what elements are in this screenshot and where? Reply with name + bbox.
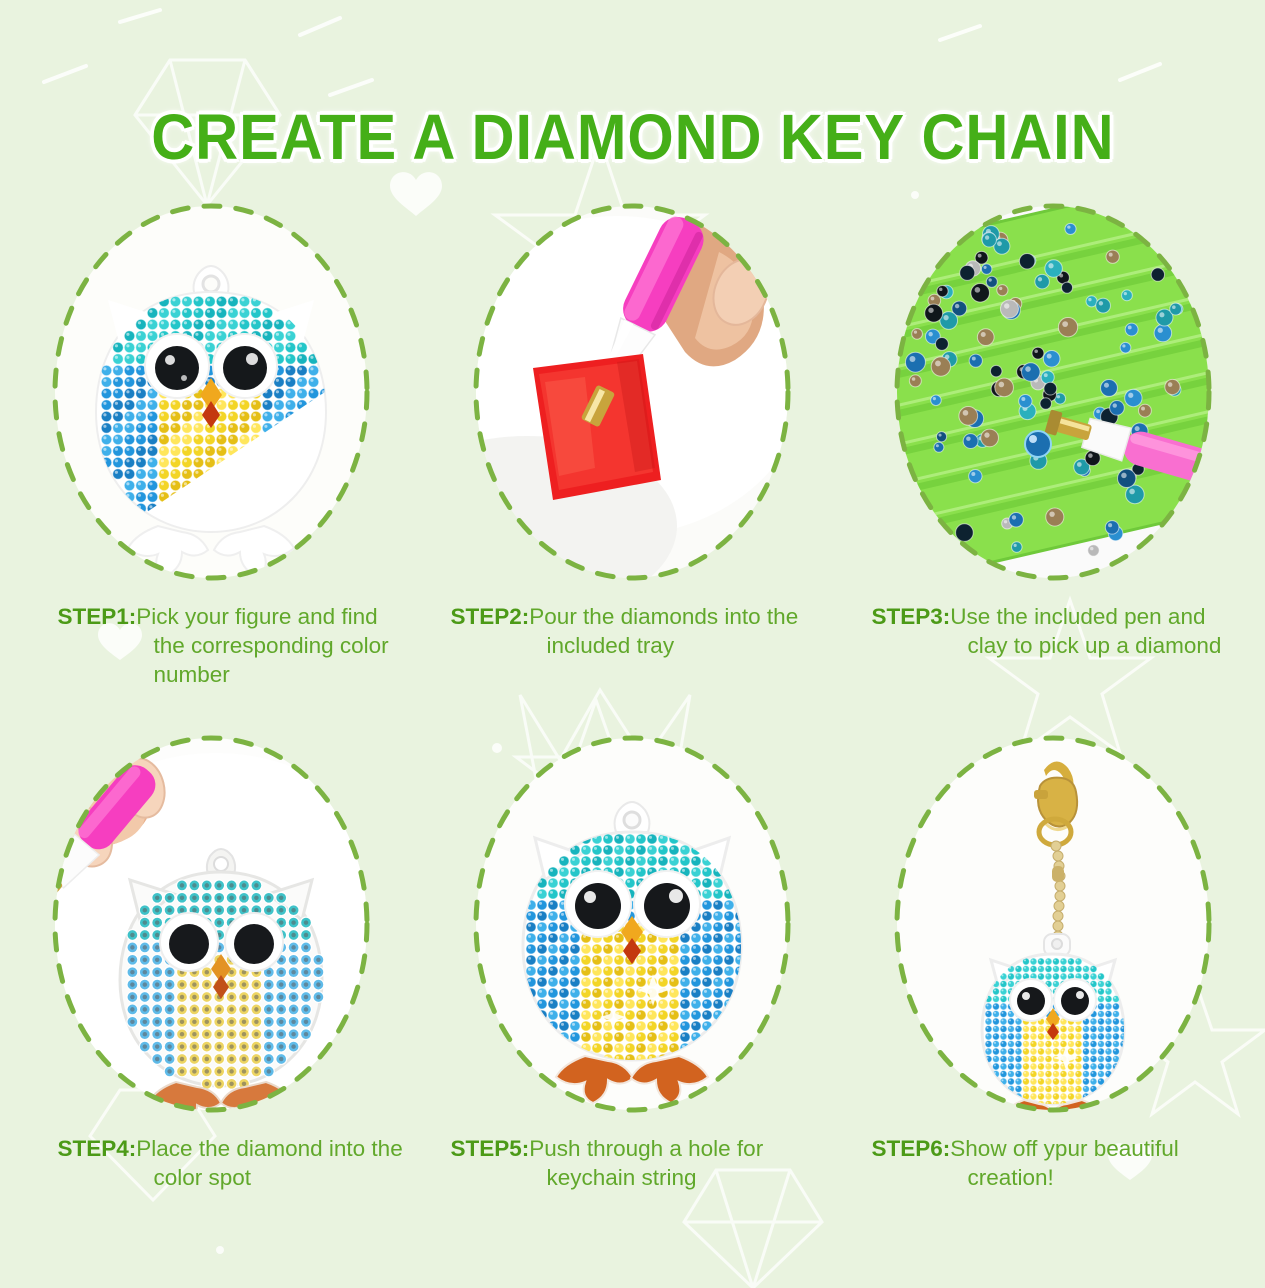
- step-caption-2: STEP2:Pour the diamonds into the include…: [437, 602, 827, 660]
- step-text-6: Show off ypur beautiful creation!: [950, 1136, 1178, 1190]
- step-caption-3: STEP3:Use the included pen and clay to p…: [858, 602, 1248, 660]
- step-photo-4: [46, 728, 376, 1120]
- step-text-2: Pour the diamonds into the included tray: [529, 604, 798, 658]
- steps-row-top: STEP1:Pick your figure and find the corr…: [0, 196, 1265, 689]
- step-label-4: STEP4:: [58, 1136, 137, 1161]
- step-card-1: STEP1:Pick your figure and find the corr…: [0, 196, 421, 689]
- step-label-6: STEP6:: [872, 1136, 951, 1161]
- step-card-2: STEP2:Pour the diamonds into the include…: [421, 196, 842, 689]
- steps-row-bottom: STEP4:Place the diamond into the color s…: [0, 728, 1265, 1192]
- diamond-tray-illustration: [888, 196, 1218, 588]
- step-caption-5: STEP5:Push through a hole for keychain s…: [437, 1134, 827, 1192]
- page-header: CREATE A DIAMOND KEY CHAIN: [0, 62, 1265, 212]
- step-photo-3: [888, 196, 1218, 588]
- step-card-6: STEP6:Show off ypur beautiful creation!: [842, 728, 1263, 1192]
- step-photo-6: [888, 728, 1218, 1120]
- step-text-1: Pick your figure and find the correspond…: [136, 604, 388, 687]
- step-photo-1: [46, 196, 376, 588]
- step-text-3: Use the included pen and clay to pick up…: [950, 604, 1221, 658]
- step-card-5: STEP5:Push through a hole for keychain s…: [421, 728, 842, 1192]
- step-photo-5: [467, 728, 797, 1120]
- step-label-5: STEP5:: [451, 1136, 530, 1161]
- step-caption-4: STEP4:Place the diamond into the color s…: [16, 1134, 406, 1192]
- step-caption-1: STEP1:Pick your figure and find the corr…: [16, 602, 406, 689]
- step-card-3: STEP3:Use the included pen and clay to p…: [842, 196, 1263, 689]
- step-caption-6: STEP6:Show off ypur beautiful creation!: [858, 1134, 1248, 1192]
- step-label-2: STEP2:: [451, 604, 530, 629]
- page-title: CREATE A DIAMOND KEY CHAIN: [151, 105, 1114, 169]
- step-label-3: STEP3:: [872, 604, 951, 629]
- step-label-1: STEP1:: [58, 604, 137, 629]
- step-text-5: Push through a hole for keychain string: [529, 1136, 763, 1190]
- step-text-4: Place the diamond into the color spot: [136, 1136, 402, 1190]
- step-card-4: STEP4:Place the diamond into the color s…: [0, 728, 421, 1192]
- placing-diamond-illustration: [46, 736, 376, 1120]
- step-photo-2: [467, 196, 797, 588]
